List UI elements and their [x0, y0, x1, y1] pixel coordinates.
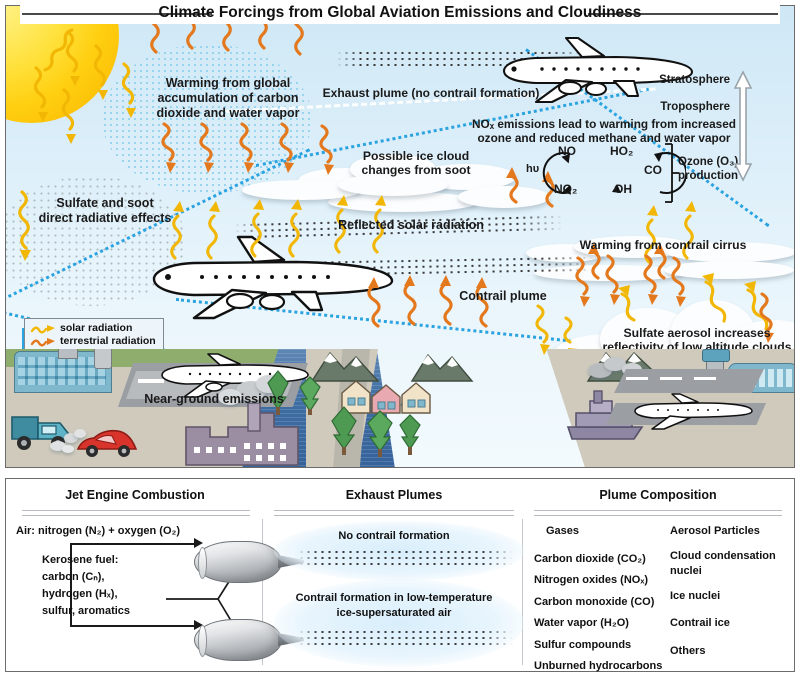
plumes-no-contrail-text: No contrail formation — [274, 529, 514, 545]
aerosols-list: Cloud condensation nuclei Ice nuclei Con… — [670, 549, 796, 659]
page-title: Climate Forcings from Global Aviation Em… — [0, 4, 800, 22]
radiation-legend: solar radiation terrestrial radiation — [24, 318, 164, 352]
aerosol-item-0: Cloud condensation nuclei — [670, 549, 796, 580]
chem-hv-label: hυ — [526, 163, 539, 176]
car-icon — [72, 427, 148, 461]
control-tower — [58, 349, 78, 359]
label-warming-co2: Warming from global accumulation of carb… — [128, 76, 328, 120]
gas-item-0: Carbon dioxide (CO₂) — [534, 549, 674, 570]
label-stratosphere: Stratosphere — [642, 74, 730, 88]
jet-engine-top — [194, 541, 282, 583]
aerosol-item-2: Contrail ice — [670, 616, 796, 631]
climate-scene: hυ NO NO₂ HO₂ OH CO Ozone (O₃) productio… — [5, 5, 795, 468]
runway-right — [614, 369, 764, 393]
legend-item-terrestrial: terrestrial radiation — [30, 335, 156, 348]
panel-plume-band-bottom — [298, 629, 513, 647]
column-heading-plumes: Exhaust Plumes — [264, 488, 524, 502]
chem-co-label: CO — [644, 163, 662, 177]
gas-item-5: Unburned hydrocarbons (HC) — [534, 656, 674, 677]
label-nox-emissions: NOₓ emissions lead to warming from incre… — [444, 118, 764, 146]
label-exhaust-plume: Exhaust plume (no contrail formation) — [306, 86, 556, 100]
legend-item-solar: solar radiation — [30, 322, 156, 335]
column-heading-combustion: Jet Engine Combustion — [6, 488, 264, 502]
label-contrail-plume: Contrail plume — [438, 289, 568, 304]
rule-combustion — [22, 510, 250, 516]
trees-icon-left — [328, 405, 424, 457]
label-contrail-cirrus: Warming from contrail cirrus — [558, 238, 768, 252]
column-heading-composition: Plume Composition — [524, 488, 792, 502]
chem-ho2-label: HO₂ — [610, 144, 633, 158]
legend-label-solar: solar radiation — [60, 322, 132, 335]
gas-item-1: Nitrogen oxides (NOₓ) — [534, 570, 674, 591]
aerosol-item-1: Ice nuclei — [670, 589, 796, 604]
chem-no-label: NO — [558, 144, 576, 158]
solar-radiation-icon — [30, 323, 56, 334]
gases-list: Carbon dioxide (CO₂) Nitrogen oxides (NO… — [534, 549, 674, 677]
terrestrial-radiation-icon — [30, 336, 56, 347]
gas-item-2: Carbon monoxide (CO) — [534, 592, 674, 613]
ozone-chemistry-cycle — [526, 140, 686, 206]
rule-composition — [534, 510, 782, 516]
gas-item-3: Water vapor (H₂O) — [534, 613, 674, 634]
chem-no2-label: NO₂ — [554, 182, 577, 196]
ground-scene — [6, 349, 794, 467]
chem-oh-label: OH — [614, 182, 632, 196]
label-reflected-solar: Reflected solar radiation — [326, 218, 496, 233]
diagram-root: Climate Forcings from Global Aviation Em… — [0, 0, 800, 677]
label-troposphere: Troposphere — [642, 101, 730, 115]
gases-heading: Gases — [546, 524, 579, 540]
aerosols-heading: Aerosol Particles — [670, 524, 760, 540]
jet-engine-bottom — [194, 619, 282, 661]
legend-label-terrestrial: terrestrial radiation — [60, 335, 156, 348]
storage-tank — [94, 349, 112, 369]
label-near-ground-emissions: Near-ground emissions — [134, 392, 294, 407]
gas-item-4: Sulfur compounds — [534, 635, 674, 656]
divider-2 — [522, 519, 523, 665]
plumes-contrail-text: Contrail formation in low-temperature ic… — [268, 591, 520, 622]
aerosol-item-3: Others — [670, 644, 796, 659]
ozone-production-label: Ozone (O₃) production — [678, 156, 738, 183]
bottom-info-panel: Jet Engine Combustion Exhaust Plumes Plu… — [5, 478, 795, 672]
rule-plumes — [274, 510, 514, 516]
combustion-air-text: Air: nitrogen (N₂) + oxygen (O₂) — [16, 524, 256, 540]
ground-aircraft-right-icon — [630, 393, 758, 433]
panel-plume-band-top — [298, 549, 513, 565]
label-sulfate-soot: Sulfate and soot direct radiative effect… — [10, 196, 200, 226]
label-ice-cloud-changes: Possible ice cloud changes from soot — [336, 149, 496, 178]
